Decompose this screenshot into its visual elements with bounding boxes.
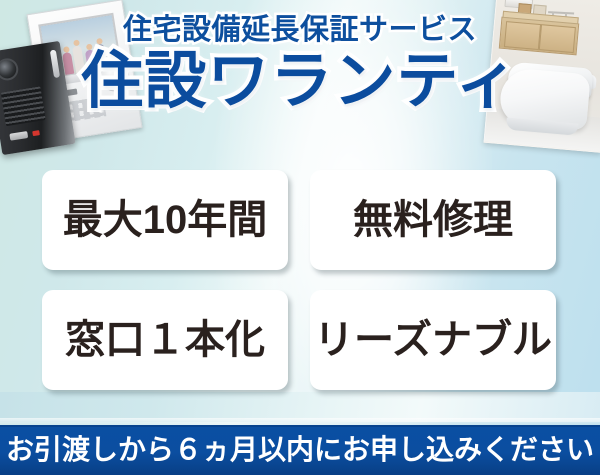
feature-box-single-contact[interactable]: 窓口１本化 [42,290,288,390]
feature-box-free-repair[interactable]: 無料修理 [310,170,556,270]
feature-label: リーズナブル [314,320,552,360]
headline-group: 住宅設備延長保証サービス 住設ワランティ [0,16,600,113]
promo-banner: 住宅設備延長保証サービス 住設ワランティ 最大10年間 無料修理 窓口１本化 リ… [0,0,600,475]
feature-box-max-years[interactable]: 最大10年間 [42,170,288,270]
feature-label: 最大10年間 [63,200,268,240]
feature-label: 無料修理 [353,200,513,240]
feature-box-grid: 最大10年間 無料修理 窓口１本化 リーズナブル [42,170,556,390]
feature-box-reasonable[interactable]: リーズナブル [310,290,556,390]
feature-label: 窓口１本化 [65,320,265,360]
footer-callout-bar[interactable]: お引渡しから６ヵ月以内にお申し込みください [0,425,600,475]
background-lower-edge [0,418,600,425]
banner-subtitle: 住宅設備延長保証サービス [0,16,600,45]
banner-title: 住設ワランティ [0,51,600,113]
doorbell-button [9,131,28,141]
footer-top-line [0,425,600,427]
footer-callout-text: お引渡しから６ヵ月以内にお申し込みください [6,436,594,464]
